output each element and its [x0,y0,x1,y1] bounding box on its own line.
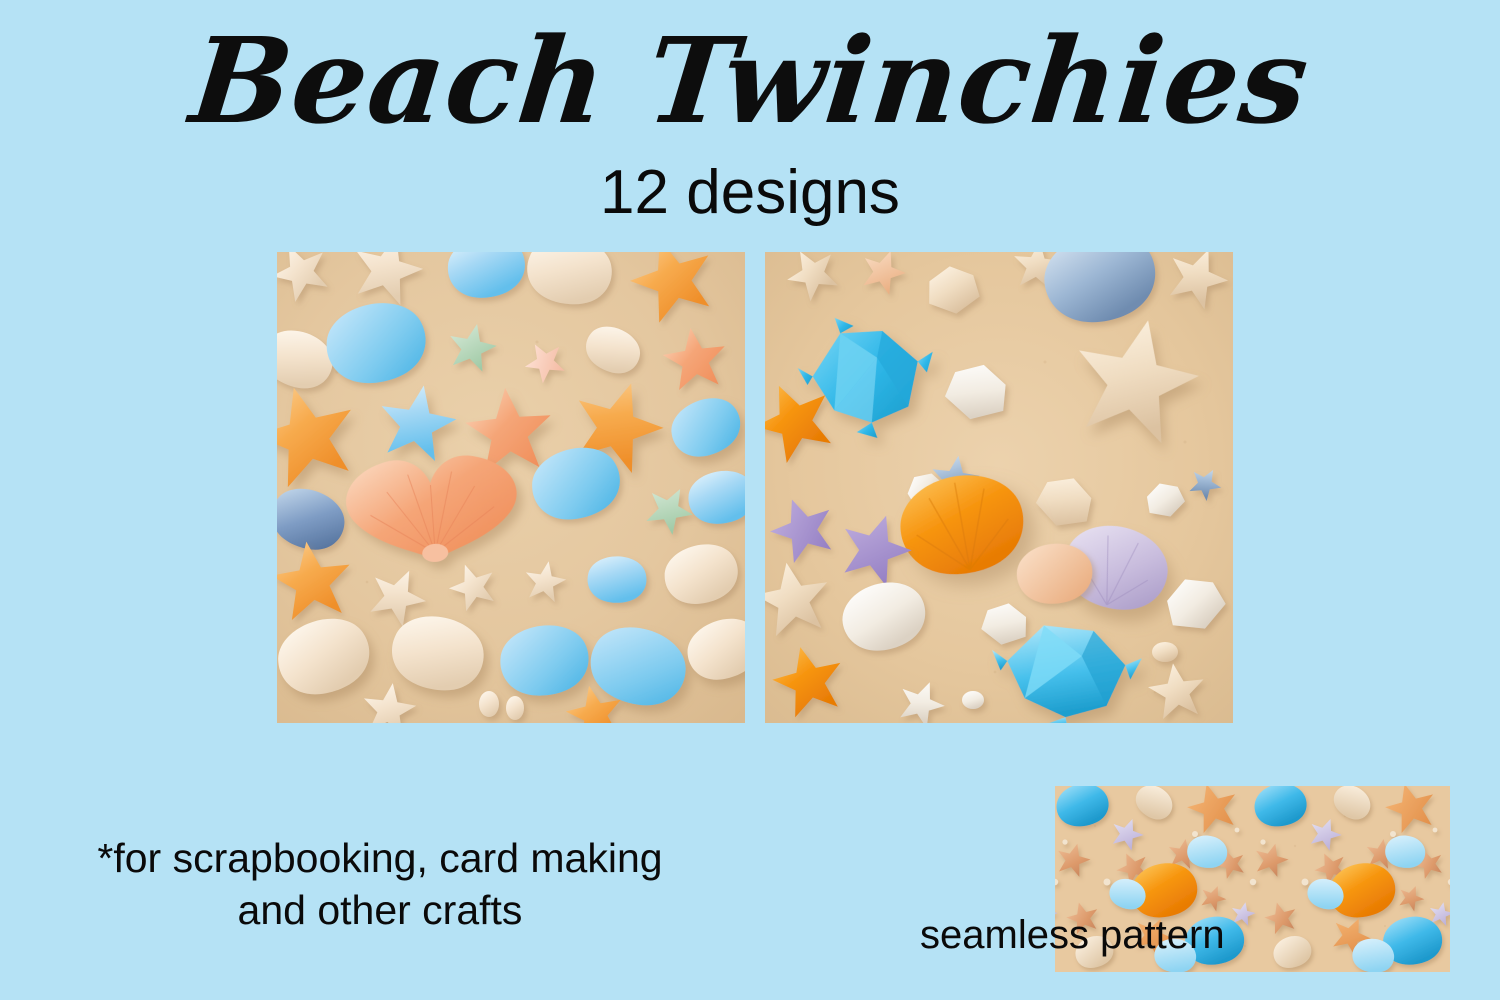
usage-note-line-2: and other crafts [80,884,680,936]
page-title: Beach Twinchies [0,22,1500,140]
seashell-illustration-right [765,252,1233,723]
product-preview-page: Beach Twinchies 12 designs [0,0,1500,1000]
usage-note: *for scrapbooking, card making and other… [80,832,680,937]
preview-image-right[interactable] [765,252,1233,723]
seashell-illustration-left [277,252,745,723]
usage-note-line-1: *for scrapbooking, card making [97,835,662,881]
seamless-pattern-label: seamless pattern [920,915,1225,955]
preview-image-left[interactable] [277,252,745,723]
page-subtitle: 12 designs [0,162,1500,224]
